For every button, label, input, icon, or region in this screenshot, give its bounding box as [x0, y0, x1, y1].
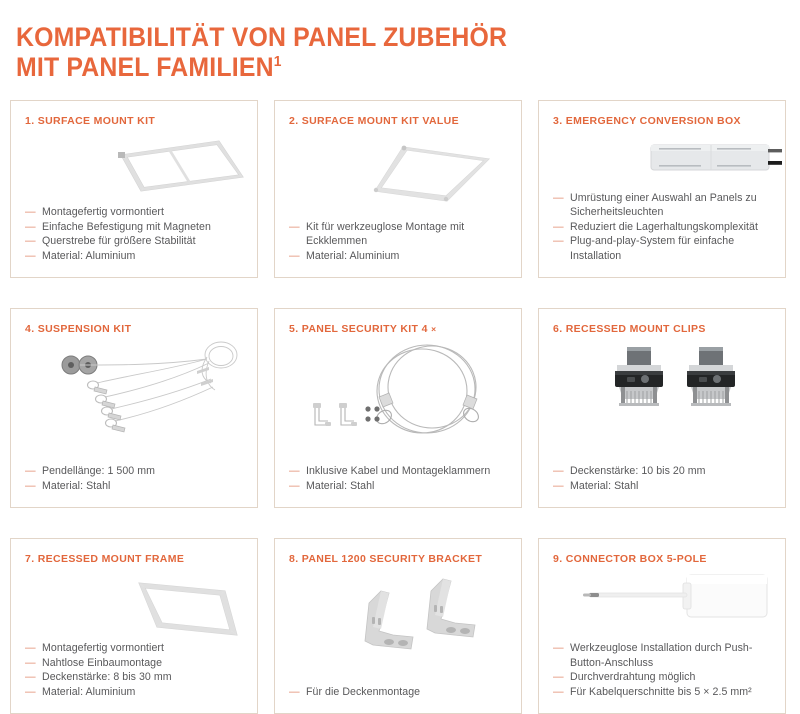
card-title-text: PANEL 1200 SECURITY BRACKET: [302, 553, 482, 565]
panel-security-kit-cable-coil-image: [275, 335, 521, 447]
list-item: Material: Stahl: [289, 479, 513, 493]
card-title: 2. SURFACE MOUNT KIT VALUE: [289, 115, 513, 128]
list-item: Inklusive Kabel und Montageklammern: [289, 464, 513, 478]
card-panel-1200-security-bracket[interactable]: 8. PANEL 1200 SECURITY BRACKET: [274, 538, 522, 714]
card-bullet-list: Umrüstung einer Auswahl an Panels zu Sic…: [553, 191, 777, 263]
card-bullet-list: Für die Deckenmontage: [289, 685, 513, 699]
card-recessed-mount-frame[interactable]: 7. RECESSED MOUNT FRAME Montage: [10, 538, 258, 714]
card-title: 3. EMERGENCY CONVERSION BOX: [553, 115, 777, 128]
emergency-conversion-box-image: [539, 133, 785, 189]
card-title: 9. CONNECTOR BOX 5-POLE: [553, 553, 777, 566]
list-item: Reduziert die Lagerhaltungskomplexität: [553, 220, 777, 234]
card-title: 6. RECESSED MOUNT CLIPS: [553, 323, 777, 336]
card-panel-security-kit[interactable]: 5. PANEL SECURITY KIT 4 ×: [274, 308, 522, 508]
list-item: Material: Stahl: [553, 479, 777, 493]
page-title: KOMPATIBILITÄT VON PANEL ZUBEHÖRMIT PANE…: [16, 22, 715, 82]
card-title-text: SUSPENSION KIT: [38, 323, 132, 335]
card-title-text: SURFACE MOUNT KIT: [38, 115, 155, 127]
card-surface-mount-kit-value[interactable]: 2. SURFACE MOUNT KIT VALUE: [274, 100, 522, 278]
card-number: 4.: [25, 323, 34, 335]
list-item: Umrüstung einer Auswahl an Panels zu Sic…: [553, 191, 777, 220]
recessed-mount-frame-image: [11, 567, 257, 643]
page-title-footnote-marker: 1: [274, 53, 282, 70]
page-root: KOMPATIBILITÄT VON PANEL ZUBEHÖRMIT PANE…: [0, 0, 800, 698]
card-recessed-mount-clips[interactable]: 6. RECESSED MOUNT CLIPS: [538, 308, 786, 508]
list-item: Für die Deckenmontage: [289, 685, 513, 699]
card-bullet-list: Pendellänge: 1 500 mm Material: Stahl: [25, 464, 249, 493]
card-bullet-list: Montagefertig vormontiert Nahtlose Einba…: [25, 641, 249, 699]
list-item: Nahtlose Einbaumontage: [25, 656, 249, 670]
list-item: Durchverdrahtung möglich: [553, 670, 777, 684]
list-item: Für Kabelquerschnitte bis 5 × 2.5 mm²: [553, 685, 777, 699]
card-title-text: EMERGENCY CONVERSION BOX: [566, 115, 741, 127]
page-title-line-2: MIT PANEL FAMILIEN: [16, 52, 274, 82]
list-item: Deckenstärke: 10 bis 20 mm: [553, 464, 777, 478]
recessed-mount-clips-image: [539, 339, 785, 435]
card-number: 9.: [553, 553, 562, 565]
list-item: Montagefertig vormontiert: [25, 641, 249, 655]
card-connector-box-5-pole[interactable]: 9. CONNECTOR BOX 5-POLE Werkzeuglose Ins…: [538, 538, 786, 714]
card-surface-mount-kit[interactable]: 1. SURFACE MOUNT KIT: [10, 100, 258, 278]
card-bullet-list: Montagefertig vormontiert Einfache Befes…: [25, 205, 249, 263]
list-item: Material: Aluminium: [289, 249, 513, 263]
list-item: Montagefertig vormontiert: [25, 205, 249, 219]
list-item: Pendellänge: 1 500 mm: [25, 464, 249, 478]
card-title-text: RECESSED MOUNT FRAME: [38, 553, 184, 565]
suspension-kit-cables-image: [11, 335, 257, 445]
list-item: Werkzeuglose Installation durch Push-But…: [553, 641, 777, 670]
panel-1200-security-brackets-image: [275, 571, 521, 675]
card-suspension-kit[interactable]: 4. SUSPENSION KIT: [10, 308, 258, 508]
card-title-suffix: ×: [431, 324, 436, 334]
card-bullet-list: Inklusive Kabel und Montageklammern Mate…: [289, 464, 513, 493]
card-title: 1. SURFACE MOUNT KIT: [25, 115, 249, 128]
card-title-text: RECESSED MOUNT CLIPS: [566, 323, 706, 335]
list-item: Querstrebe für größere Stabilität: [25, 234, 249, 248]
card-bullet-list: Deckenstärke: 10 bis 20 mm Material: Sta…: [553, 464, 777, 493]
card-title: 7. RECESSED MOUNT FRAME: [25, 553, 249, 566]
card-bullet-list: Werkzeuglose Installation durch Push-But…: [553, 641, 777, 699]
list-item: Material: Aluminium: [25, 685, 249, 699]
card-title: 8. PANEL 1200 SECURITY BRACKET: [289, 553, 513, 566]
surface-mount-kit-value-frame-image: [275, 129, 521, 211]
list-item: Plug-and-play-System für einfache Instal…: [553, 234, 777, 263]
card-number: 2.: [289, 115, 298, 127]
list-item: Kit für werkzeuglose Montage mit Eckklem…: [289, 220, 513, 249]
list-item: Deckenstärke: 8 bis 30 mm: [25, 670, 249, 684]
card-title-text: CONNECTOR BOX 5-POLE: [566, 553, 707, 565]
list-item: Material: Stahl: [25, 479, 249, 493]
accessory-card-grid: 1. SURFACE MOUNT KIT: [10, 100, 790, 714]
list-item: Einfache Befestigung mit Magneten: [25, 220, 249, 234]
card-number: 5.: [289, 323, 298, 335]
connector-box-5-pole-image: [539, 569, 785, 631]
card-number: 1.: [25, 115, 34, 127]
card-title-text: SURFACE MOUNT KIT VALUE: [302, 115, 459, 127]
card-emergency-conversion-box[interactable]: 3. EMERGENCY CONVERSION BOX: [538, 100, 786, 278]
card-number: 8.: [289, 553, 298, 565]
card-title-text: PANEL SECURITY KIT 4: [302, 323, 428, 335]
card-number: 6.: [553, 323, 562, 335]
surface-mount-kit-frame-image: [11, 129, 257, 207]
card-number: 7.: [25, 553, 34, 565]
card-number: 3.: [553, 115, 562, 127]
card-bullet-list: Kit für werkzeuglose Montage mit Eckklem…: [289, 220, 513, 263]
page-title-line-1: KOMPATIBILITÄT VON PANEL ZUBEHÖR: [16, 22, 507, 52]
list-item: Material: Aluminium: [25, 249, 249, 263]
